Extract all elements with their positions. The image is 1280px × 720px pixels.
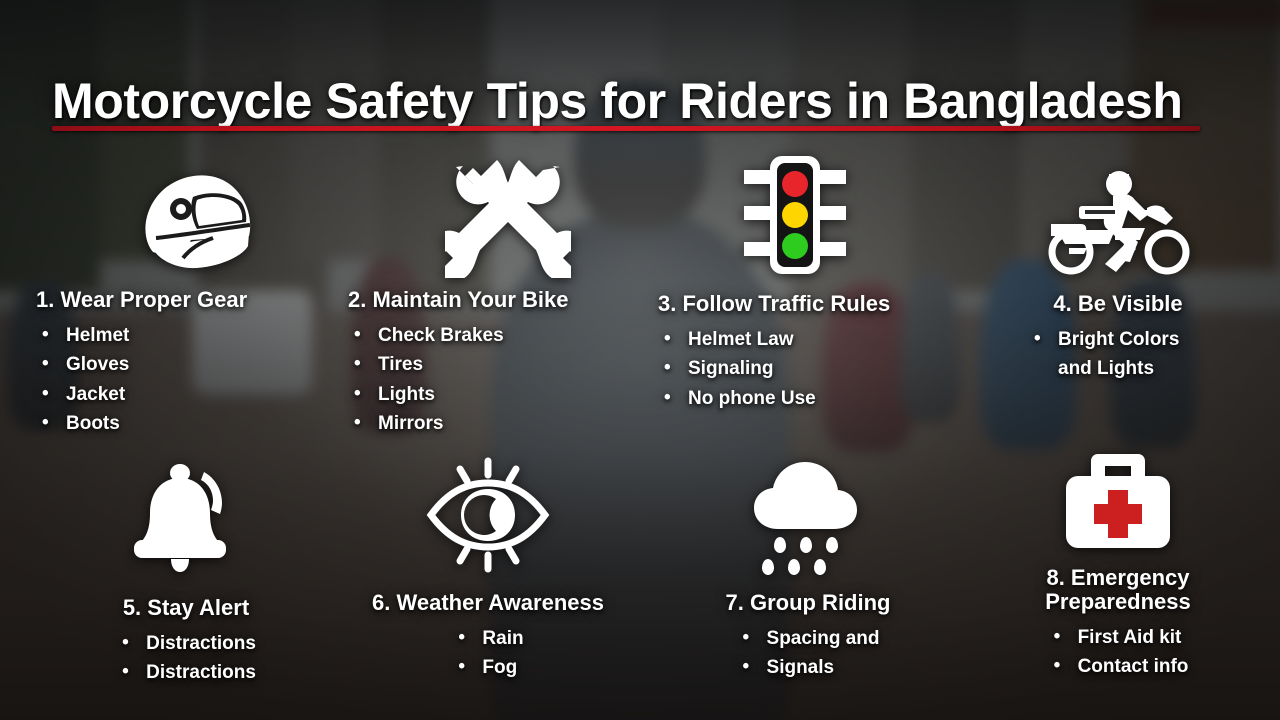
eye-awareness-icon (328, 455, 648, 575)
tip-card-4: 4. Be Visible Bright Colors and Lights (968, 160, 1268, 384)
tip-bullets-3: Helmet Law Signaling No phone Use (658, 325, 978, 413)
list-item: Bright Colors and Lights (1028, 325, 1208, 384)
crossed-wrenches-icon (348, 160, 668, 278)
tip-bullets-6: Rain Fog (452, 624, 523, 683)
tip-card-8: 8. Emergency Preparedness First Aid kit … (968, 440, 1268, 681)
list-item: Boots (36, 409, 356, 438)
list-item: Jacket (36, 380, 356, 409)
list-item: Helmet (36, 321, 356, 350)
tip-card-1: 1. Wear Proper Gear Helmet Gloves Jacket… (36, 160, 356, 439)
tip-title-6: 6. Weather Awareness (328, 591, 648, 615)
list-item: Gloves (36, 350, 356, 379)
list-item: Helmet Law (658, 325, 978, 354)
infographic-canvas: Motorcycle Safety Tips for Riders in Ban… (0, 0, 1280, 720)
list-item: Spacing and (737, 624, 880, 653)
traffic-light-icon (658, 160, 978, 278)
rain-cloud-icon (648, 455, 968, 575)
tip-bullets-8: First Aid kit Contact info (1048, 623, 1189, 682)
tip-title-2: 2. Maintain Your Bike (348, 288, 668, 312)
page-title: Motorcycle Safety Tips for Riders in Ban… (52, 72, 1232, 130)
first-aid-kit-icon (968, 440, 1268, 552)
list-item: Distractions (116, 658, 256, 687)
list-item: Check Brakes (348, 321, 668, 350)
list-item: Signaling (658, 354, 978, 383)
list-item: Mirrors (348, 409, 668, 438)
title-underline (52, 126, 1200, 131)
tip-title-1: 1. Wear Proper Gear (36, 288, 356, 312)
list-item: Fog (452, 653, 523, 682)
list-item: Rain (452, 624, 523, 653)
tip-title-5: 5. Stay Alert (26, 596, 346, 620)
list-item: First Aid kit (1048, 623, 1189, 652)
tip-title-8: 8. Emergency Preparedness (1003, 566, 1233, 614)
tip-card-2: 2. Maintain Your Bike Check Brakes Tires… (348, 160, 668, 439)
tip-bullets-1: Helmet Gloves Jacket Boots (36, 321, 356, 439)
list-item: No phone Use (658, 384, 978, 413)
tip-title-3: 3. Follow Traffic Rules (658, 292, 978, 316)
content-layer: Motorcycle Safety Tips for Riders in Ban… (0, 0, 1280, 720)
bell-icon (26, 462, 346, 574)
tip-card-7: 7. Group Riding Spacing and Signals (648, 455, 968, 683)
list-item: Lights (348, 380, 668, 409)
helmet-icon (36, 160, 356, 278)
tip-bullets-4: Bright Colors and Lights (1028, 325, 1208, 384)
tip-card-6: 6. Weather Awareness Rain Fog (328, 455, 648, 683)
tip-bullets-2: Check Brakes Tires Lights Mirrors (348, 321, 668, 439)
list-item: Signals (737, 653, 880, 682)
list-item: Tires (348, 350, 668, 379)
tip-title-7: 7. Group Riding (648, 591, 968, 615)
tip-card-3: 3. Follow Traffic Rules Helmet Law Signa… (658, 160, 978, 413)
tip-card-5: 5. Stay Alert Distractions Distractions (26, 462, 346, 688)
list-item: Distractions (116, 629, 256, 658)
tip-title-4: 4. Be Visible (968, 292, 1268, 316)
motorcycle-rider-icon (968, 160, 1268, 278)
tip-bullets-7: Spacing and Signals (737, 624, 880, 683)
tip-bullets-5: Distractions Distractions (116, 629, 256, 688)
list-item: Contact info (1048, 652, 1189, 681)
